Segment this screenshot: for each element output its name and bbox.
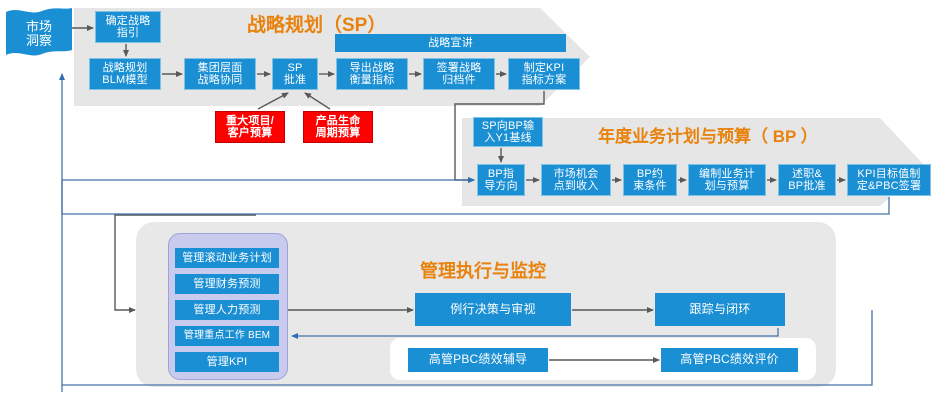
node-line2: 束条件 — [633, 180, 667, 192]
node-line1: 产品生命 — [316, 115, 361, 127]
node-line1: KPI目标值制 — [857, 168, 920, 180]
node-line2: BP批准 — [788, 180, 825, 192]
node-exec-decision[interactable]: 例行决策与审视 — [415, 293, 571, 326]
node-line2: 指标方案 — [522, 74, 567, 86]
node-line2: 衡量指标 — [350, 74, 395, 86]
node-line2: 划与预算 — [705, 180, 750, 192]
node-budget-lifecycle[interactable]: 产品生命 周期预算 — [303, 111, 373, 143]
node-line1: 编制业务计 — [699, 168, 755, 180]
node-line1: 签署战略 — [437, 62, 482, 74]
node-sp-guide[interactable]: 确定战略 指引 — [95, 11, 161, 43]
node-line1: 重大项目/ — [226, 115, 274, 127]
node-line1: BP指 — [488, 168, 514, 180]
node-pbc-assess[interactable]: 高管PBC绩效评价 — [661, 348, 798, 372]
node-line1: 导出战略 — [350, 62, 395, 74]
wire-budget-project-to-approve — [258, 93, 288, 109]
node-budget-project[interactable]: 重大项目/ 客户预算 — [215, 111, 285, 143]
node-mg-hr[interactable]: 管理人力预测 — [175, 300, 279, 320]
node-bp-constraint[interactable]: BP约 束条件 — [623, 164, 677, 196]
node-bp-direction[interactable]: BP指 导方向 — [477, 164, 525, 196]
market-insight-flag[interactable]: 市场 洞察 — [4, 6, 74, 62]
market-insight-line1: 市场 — [26, 20, 52, 34]
node-bp-review[interactable]: 述职& BP批准 — [778, 164, 836, 196]
node-line1: 述职& — [792, 168, 822, 180]
exec-section-title: 管理执行与监控 — [420, 257, 546, 283]
node-line1: SP向BP输 — [482, 120, 535, 132]
node-line2: 入Y1基线 — [484, 132, 531, 144]
node-line1: 确定战略 — [106, 15, 151, 27]
node-line2: 点到收入 — [554, 180, 599, 192]
node-line2: 归档件 — [442, 74, 476, 86]
market-insight-line2: 洞察 — [26, 34, 52, 48]
node-sp-to-bp[interactable]: SP向BP输 入Y1基线 — [473, 117, 543, 147]
node-mg-kpi[interactable]: 管理KPI — [175, 352, 279, 372]
node-bp-market[interactable]: 市场机会 点到收入 — [541, 164, 611, 196]
node-bp-plan[interactable]: 编制业务计 划与预算 — [688, 164, 766, 196]
node-sp-sign[interactable]: 签署战略 归档件 — [423, 58, 495, 90]
node-line1: 制定KPI — [524, 62, 565, 74]
node-line1: 战略规划 — [103, 62, 148, 74]
node-line1: SP — [287, 62, 302, 74]
node-line1: 集团层面 — [198, 62, 243, 74]
node-line2: 客户预算 — [228, 127, 273, 139]
node-line2: 战略协同 — [198, 74, 243, 86]
node-line2: 批准 — [284, 74, 306, 86]
node-line2: 指引 — [117, 27, 139, 39]
node-exec-track[interactable]: 跟踪与闭环 — [655, 293, 785, 326]
node-sp-measure[interactable]: 导出战略 衡量指标 — [336, 58, 408, 90]
sp-announce-bar[interactable]: 战略宣讲 — [335, 34, 566, 52]
node-mg-rolling[interactable]: 管理滚动业务计划 — [175, 248, 279, 268]
node-line2: 导方向 — [484, 180, 518, 192]
node-line2: 周期预算 — [316, 127, 361, 139]
sp-section-title: 战略规划（SP） — [247, 10, 386, 37]
node-pbc-coach[interactable]: 高管PBC绩效辅导 — [408, 348, 548, 372]
node-line2: 定&PBC签署 — [857, 180, 921, 192]
node-line1: 市场机会 — [554, 168, 599, 180]
node-line2: BLM模型 — [102, 74, 148, 86]
bp-section-title: 年度业务计划与预算（ BP ） — [598, 122, 818, 147]
diagram-canvas: 战略规划（SP） 战略宣讲 市场 洞察 确定战略 指引 战略规划 BLM模型 集… — [0, 0, 939, 400]
wire-budget-lifecycle-to-approve — [305, 93, 330, 109]
node-sp-blm[interactable]: 战略规划 BLM模型 — [89, 58, 161, 90]
node-line1: BP约 — [637, 168, 663, 180]
node-mg-finance[interactable]: 管理财务预测 — [175, 274, 279, 294]
node-bp-pbc[interactable]: KPI目标值制 定&PBC签署 — [847, 164, 931, 196]
node-sp-group[interactable]: 集团层面 战略协同 — [184, 58, 256, 90]
node-mg-bem[interactable]: 管理重点工作 BEM — [175, 326, 279, 346]
node-sp-kpi[interactable]: 制定KPI 指标方案 — [508, 58, 580, 90]
node-sp-approve[interactable]: SP 批准 — [272, 58, 318, 90]
